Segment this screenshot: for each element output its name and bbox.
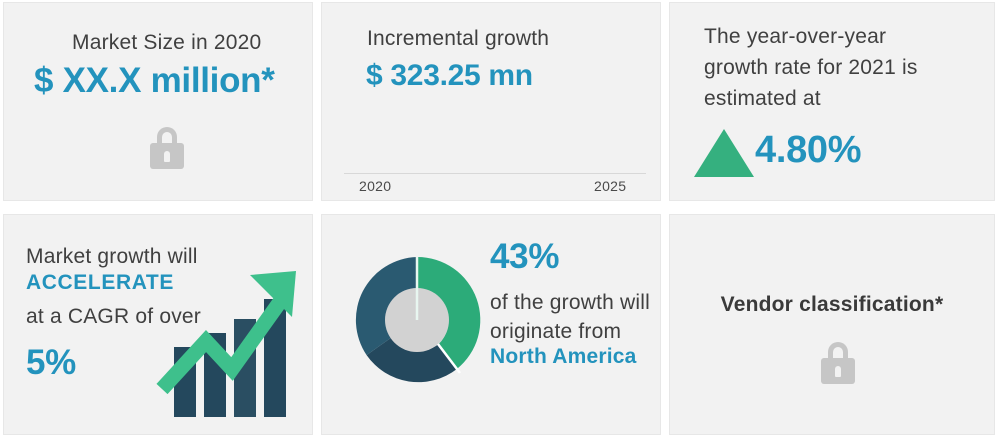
- panel-incremental-growth-wrap: Incremental growth $ 323.25 mn 2020 2025: [318, 0, 666, 210]
- incremental-growth-value: $ 323.25 mn: [366, 59, 533, 93]
- panel-yoy-growth: The year-over-year growth rate for 2021 …: [669, 2, 995, 201]
- panel-cagr: Market growth will ACCELERATE at a CAGR …: [3, 214, 313, 435]
- panel-vendor-classification: Vendor classification*: [669, 214, 995, 435]
- yoy-growth-description: The year-over-year growth rate for 2021 …: [704, 21, 954, 114]
- region-share-region-name: North America: [490, 345, 637, 369]
- donut-chart-icon: [342, 245, 492, 395]
- axis-label-2020: 2020: [359, 178, 391, 194]
- panel-market-size-wrap: Market Size in 2020 $ XX.X million*: [0, 0, 318, 210]
- padlock-keyhole: [835, 366, 841, 377]
- infographic-board: Market Size in 2020 $ XX.X million* Incr…: [0, 0, 1000, 441]
- yoy-line-3: estimated at: [704, 83, 954, 114]
- up-triangle-icon: [694, 129, 754, 177]
- yoy-line-1: The year-over-year: [704, 21, 954, 52]
- padlock-icon: [150, 127, 184, 169]
- panel-vendor-classification-wrap: Vendor classification*: [666, 210, 1000, 441]
- region-share-value: 43%: [490, 237, 559, 277]
- panel-yoy-growth-wrap: The year-over-year growth rate for 2021 …: [666, 0, 1000, 210]
- bar-chart-baseline: [344, 173, 646, 174]
- cagr-value: 5%: [26, 343, 76, 383]
- yoy-growth-value: 4.80%: [755, 129, 861, 172]
- padlock-keyhole: [164, 151, 170, 162]
- panel-incremental-growth: Incremental growth $ 323.25 mn 2020 2025: [321, 2, 661, 201]
- panel-region-share-wrap: 43% of the growth will originate from No…: [318, 210, 666, 441]
- market-size-value: $ XX.X million*: [34, 61, 275, 101]
- panel-market-size: Market Size in 2020 $ XX.X million*: [3, 2, 313, 201]
- cagr-line-2-accelerate: ACCELERATE: [26, 271, 174, 295]
- market-size-title: Market Size in 2020: [72, 27, 261, 58]
- panel-region-share: 43% of the growth will originate from No…: [321, 214, 661, 435]
- region-share-line-2: originate from: [490, 316, 621, 347]
- region-share-line-1: of the growth will: [490, 287, 650, 318]
- incremental-growth-title: Incremental growth: [367, 23, 549, 54]
- growth-arrow-bars-icon: [154, 237, 313, 417]
- yoy-line-2: growth rate for 2021 is: [704, 52, 954, 83]
- axis-label-2025: 2025: [594, 178, 626, 194]
- padlock-icon: [821, 342, 855, 384]
- vendor-classification-title: Vendor classification*: [670, 293, 994, 317]
- panel-cagr-wrap: Market growth will ACCELERATE at a CAGR …: [0, 210, 318, 441]
